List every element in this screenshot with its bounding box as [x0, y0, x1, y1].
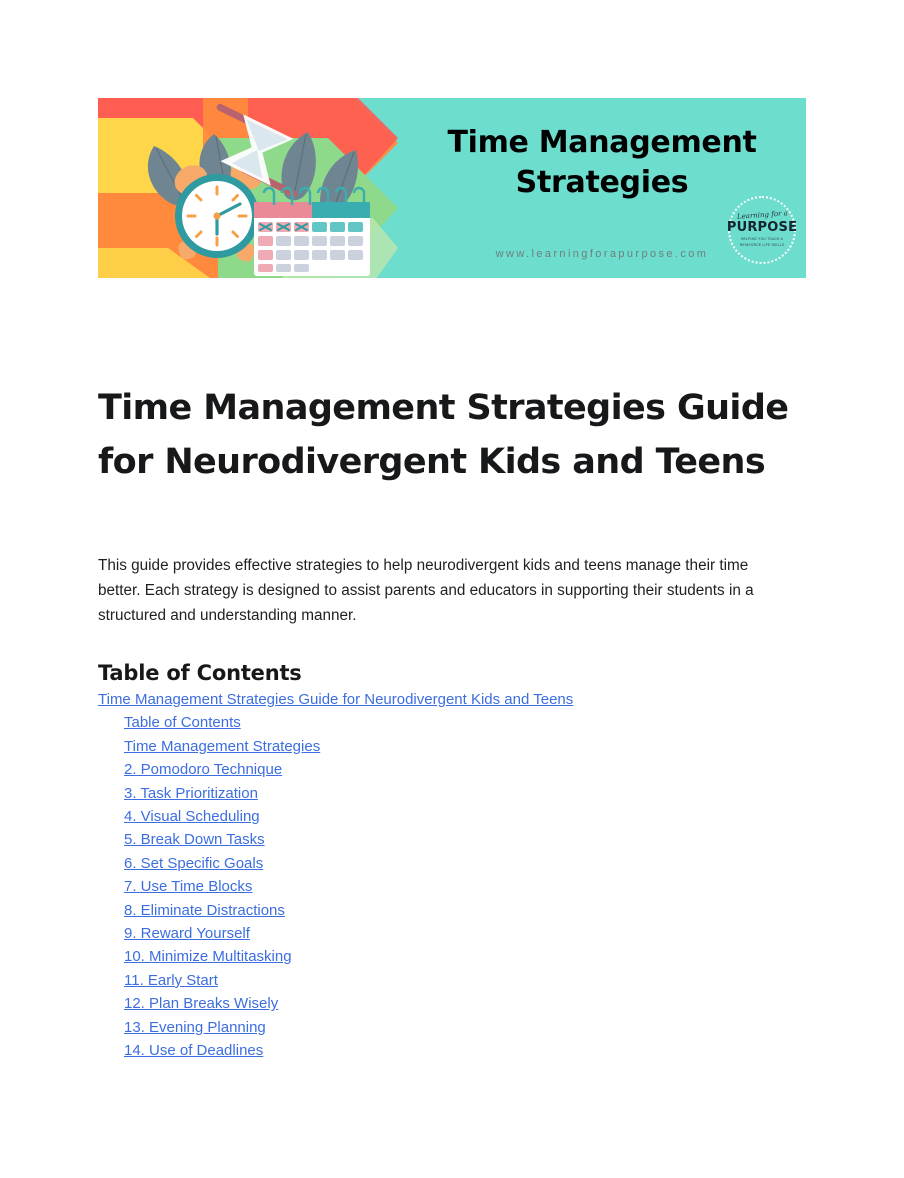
toc-link[interactable]: 8. Eliminate Distractions: [124, 899, 285, 922]
toc-link[interactable]: 5. Break Down Tasks: [124, 828, 265, 851]
intro-paragraph: This guide provides effective strategies…: [98, 553, 793, 628]
toc-link[interactable]: 11. Early Start: [124, 969, 218, 992]
toc-link[interactable]: 2. Pomodoro Technique: [124, 758, 282, 781]
document-page: Time Management Strategies www.learningf…: [0, 0, 904, 1178]
logo-main-text: PURPOSE: [727, 221, 797, 234]
toc-link[interactable]: Table of Contents: [124, 711, 241, 734]
banner-title-line2: Strategies: [398, 163, 806, 203]
banner-title-line1: Time Management: [447, 125, 756, 160]
banner-title: Time Management Strategies: [398, 123, 806, 203]
toc-link[interactable]: 9. Reward Yourself: [124, 922, 250, 945]
table-of-contents: Time Management Strategies Guide for Neu…: [98, 688, 798, 1063]
toc-link[interactable]: 7. Use Time Blocks: [124, 875, 252, 898]
time-management-illustration: [98, 98, 398, 278]
toc-link[interactable]: 12. Plan Breaks Wisely: [124, 992, 278, 1015]
header-banner: Time Management Strategies www.learningf…: [98, 98, 806, 278]
toc-link[interactable]: 6. Set Specific Goals: [124, 852, 263, 875]
toc-link[interactable]: 10. Minimize Multitasking: [124, 945, 292, 968]
logo-sub-text: HELPING YOU TEACH & REINFORCE LIFE SKILL…: [734, 237, 790, 247]
toc-link[interactable]: 13. Evening Planning: [124, 1016, 266, 1039]
toc-link[interactable]: 3. Task Prioritization: [124, 782, 258, 805]
brand-logo: Learning for a PURPOSE HELPING YOU TEACH…: [728, 196, 796, 264]
table-of-contents-heading: Table of Contents: [98, 659, 302, 687]
page-title: Time Management Strategies Guide for Neu…: [98, 381, 798, 489]
toc-link[interactable]: Time Management Strategies Guide for Neu…: [98, 688, 573, 711]
toc-link[interactable]: 4. Visual Scheduling: [124, 805, 260, 828]
toc-link[interactable]: Time Management Strategies: [124, 735, 320, 758]
toc-link[interactable]: 14. Use of Deadlines: [124, 1039, 263, 1062]
